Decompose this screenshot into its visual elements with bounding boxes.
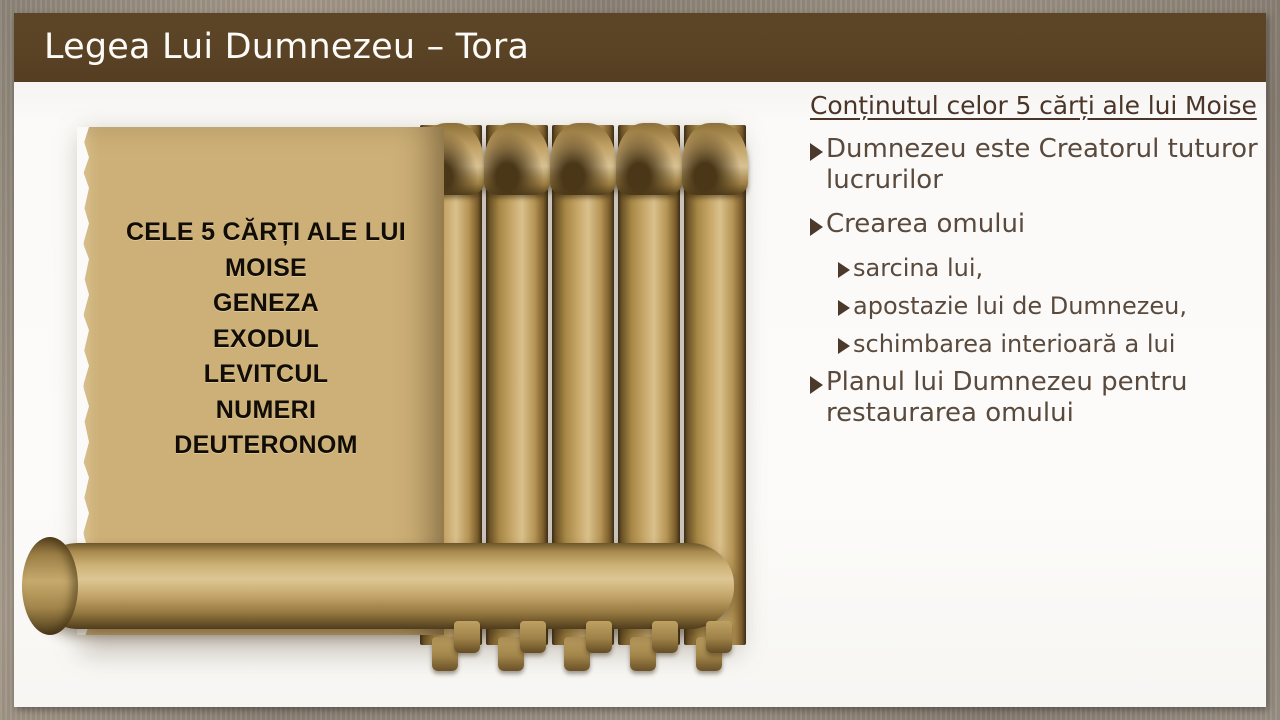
bullet-text: schimbarea interioară a lui <box>853 330 1262 359</box>
triangle-bullet-icon <box>810 218 823 236</box>
triangle-bullet-icon <box>838 262 850 278</box>
bullet-text: Dumnezeu este Creatorul tuturor lucruril… <box>826 134 1262 195</box>
slide-title-bar: Legea Lui Dumnezeu – Tora <box>14 13 1266 82</box>
page-title: Legea Lui Dumnezeu – Tora <box>44 27 529 67</box>
bullet-item: Crearea omului <box>810 209 1262 240</box>
bullet-text: Crearea omului <box>826 209 1262 240</box>
scroll-bottom-roll <box>34 543 734 629</box>
bullet-item-sub: schimbarea interioară a lui <box>810 330 1262 359</box>
triangle-bullet-icon <box>810 376 823 394</box>
scroll-text-line: MOISE <box>98 251 434 287</box>
scroll-text-line: NUMERI <box>98 393 434 429</box>
bullet-text: apostazie lui de Dumnezeu, <box>853 292 1262 321</box>
scroll-text-line: CELE 5 CĂRȚI ALE LUI <box>98 215 434 251</box>
triangle-bullet-icon <box>838 300 850 316</box>
scroll-roll-tab <box>586 621 612 653</box>
bullet-item-sub: sarcina lui, <box>810 254 1262 283</box>
scroll-roll-tab <box>652 621 678 653</box>
bullet-item: Planul lui Dumnezeu pentru restaurarea o… <box>810 367 1262 428</box>
bullet-text: sarcina lui, <box>853 254 1262 283</box>
slide-content-card: Legea Lui Dumnezeu – Tora CELE 5 CĂRȚI A… <box>14 13 1266 707</box>
content-column: Conținutul celor 5 cărți ale lui Moise D… <box>810 91 1262 443</box>
scroll-text-line: EXODUL <box>98 322 434 358</box>
bullet-list: Dumnezeu este Creatorul tuturor lucruril… <box>810 134 1262 429</box>
triangle-bullet-icon <box>810 143 823 161</box>
bullet-item: Dumnezeu este Creatorul tuturor lucruril… <box>810 134 1262 195</box>
scroll-text-line: LEVITCUL <box>98 357 434 393</box>
parchment-scroll-illustration: CELE 5 CĂRȚI ALE LUI MOISE GENEZA EXODUL… <box>20 111 760 671</box>
triangle-bullet-icon <box>838 338 850 354</box>
scroll-text-block: CELE 5 CĂRȚI ALE LUI MOISE GENEZA EXODUL… <box>98 215 434 464</box>
scroll-roll-tab <box>454 621 480 653</box>
scroll-roll-tab <box>706 621 732 653</box>
scroll-roll-tab <box>520 621 546 653</box>
slide-outer-frame: Legea Lui Dumnezeu – Tora CELE 5 CĂRȚI A… <box>0 0 1280 720</box>
content-heading: Conținutul celor 5 cărți ale lui Moise <box>810 91 1262 120</box>
scroll-text-line: DEUTERONOM <box>98 428 434 464</box>
bullet-item-sub: apostazie lui de Dumnezeu, <box>810 292 1262 321</box>
bullet-text: Planul lui Dumnezeu pentru restaurarea o… <box>826 367 1262 428</box>
scroll-text-line: GENEZA <box>98 286 434 322</box>
